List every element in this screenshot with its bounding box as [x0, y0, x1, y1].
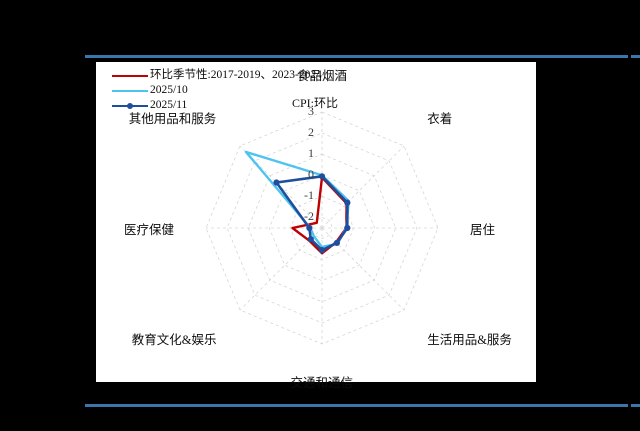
- series-marker: [334, 240, 340, 246]
- radial-tick-2: 2: [288, 125, 314, 140]
- legend-swatch-red: [112, 70, 148, 82]
- legend-swatch-cyan: [112, 85, 148, 97]
- series-marker: [319, 173, 325, 179]
- grid-spoke: [322, 228, 404, 310]
- category-label-1: 衣着: [427, 108, 452, 127]
- series-marker: [319, 247, 325, 253]
- series-marker: [306, 225, 312, 231]
- legend-item-2025-10[interactable]: 2025/10: [112, 83, 322, 98]
- divider-bottom-cap: [631, 404, 640, 407]
- divider-bottom: [85, 404, 628, 407]
- category-label-7: 其他用品和服务: [129, 108, 217, 127]
- category-label-0: 食品烟酒: [297, 65, 347, 84]
- legend-label-2025-10: 2025/10: [150, 83, 188, 98]
- series-marker: [344, 225, 350, 231]
- series-marker: [344, 200, 350, 206]
- chart-panel: 环比季节性:2017-2019、2023-2024 2025/10 2025/1…: [96, 62, 536, 382]
- slide-canvas: 环比季节性:2017-2019、2023-2024 2025/10 2025/1…: [0, 0, 640, 431]
- radar-spokes: [206, 112, 438, 344]
- radial-tick-neg2: -2: [288, 209, 314, 224]
- category-label-6: 医疗保健: [124, 219, 174, 238]
- series-marker: [308, 236, 314, 242]
- radial-tick-neg1: -1: [288, 188, 314, 203]
- divider-top-cap: [631, 55, 640, 58]
- category-label-2: 居住: [470, 219, 495, 238]
- divider-top: [85, 55, 628, 58]
- radial-tick-0: 0: [288, 167, 314, 182]
- radial-tick-1: 1: [288, 146, 314, 161]
- category-label-5: 教育文化&娱乐: [132, 329, 217, 348]
- series-marker: [273, 179, 279, 185]
- category-label-4: 交通和通信: [291, 372, 354, 391]
- category-label-3: 生活用品&服务: [427, 329, 512, 348]
- legend-item-seasonality[interactable]: 环比季节性:2017-2019、2023-2024: [112, 68, 322, 83]
- radial-tick-3: 3: [288, 104, 314, 119]
